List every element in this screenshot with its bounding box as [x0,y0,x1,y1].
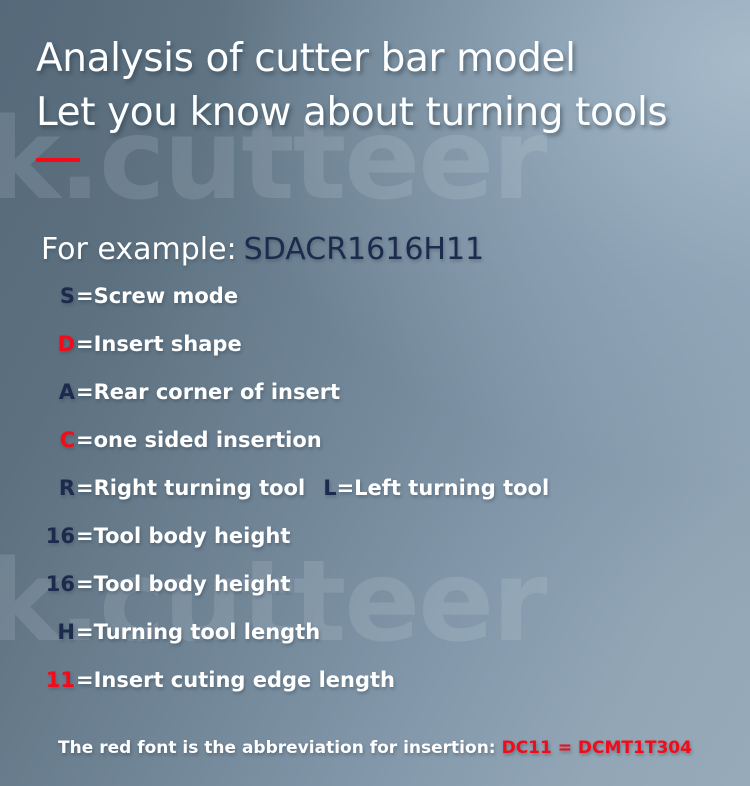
list-item: 16 =Tool body height [0,572,750,620]
page-title-line-1: Analysis of cutter bar model [36,32,726,86]
legend-key: 16 [0,572,75,596]
footer-note-code: DC11 = DCMT1T304 [502,738,692,758]
legend-value: =Tool body height [75,572,290,596]
list-item: C =one sided insertion [0,428,750,476]
footer-note-text: The red font is the abbreviation for ins… [58,738,496,758]
legend-value: =Tool body height [75,524,290,548]
list-item: A =Rear corner of insert [0,380,750,428]
legend-list: S =Screw mode D =Insert shape A =Rear co… [0,284,750,716]
legend-key: R [0,476,75,500]
list-item: S =Screw mode [0,284,750,332]
poster-canvas: k.cutteer k.cutteer Analysis of cutter b… [0,0,750,786]
legend-key: H [0,620,75,644]
legend-value: =Insert cuting edge length [75,668,395,692]
legend-value: =Screw mode [75,284,238,308]
legend-key: 16 [0,524,75,548]
legend-value: =Insert shape [75,332,242,356]
footer-note: The red font is the abbreviation for ins… [0,738,750,758]
example-code: SDACR1616H11 [244,232,484,267]
example-label: For example: [41,232,237,267]
legend-key-secondary: L [305,476,336,500]
page-title-line-2: Let you know about turning tools [36,86,726,140]
legend-key: D [0,332,75,356]
legend-value: =Rear corner of insert [75,380,340,404]
list-item: R =Right turning tool L =Left turning to… [0,476,750,524]
legend-key: A [0,380,75,404]
list-item: H =Turning tool length [0,620,750,668]
list-item: D =Insert shape [0,332,750,380]
legend-value: =one sided insertion [75,428,322,452]
legend-key: 11 [0,668,75,692]
legend-value-secondary: =Left turning tool [337,476,550,500]
list-item: 16 =Tool body height [0,524,750,572]
legend-value: =Right turning tool [75,476,305,500]
legend-key: S [0,284,75,308]
example-heading: For example:SDACR1616H11 [41,232,484,268]
legend-key: C [0,428,75,452]
accent-rule [36,158,80,162]
legend-value: =Turning tool length [75,620,320,644]
list-item: 11 =Insert cuting edge length [0,668,750,716]
header-block: Analysis of cutter bar model Let you kno… [36,32,726,162]
